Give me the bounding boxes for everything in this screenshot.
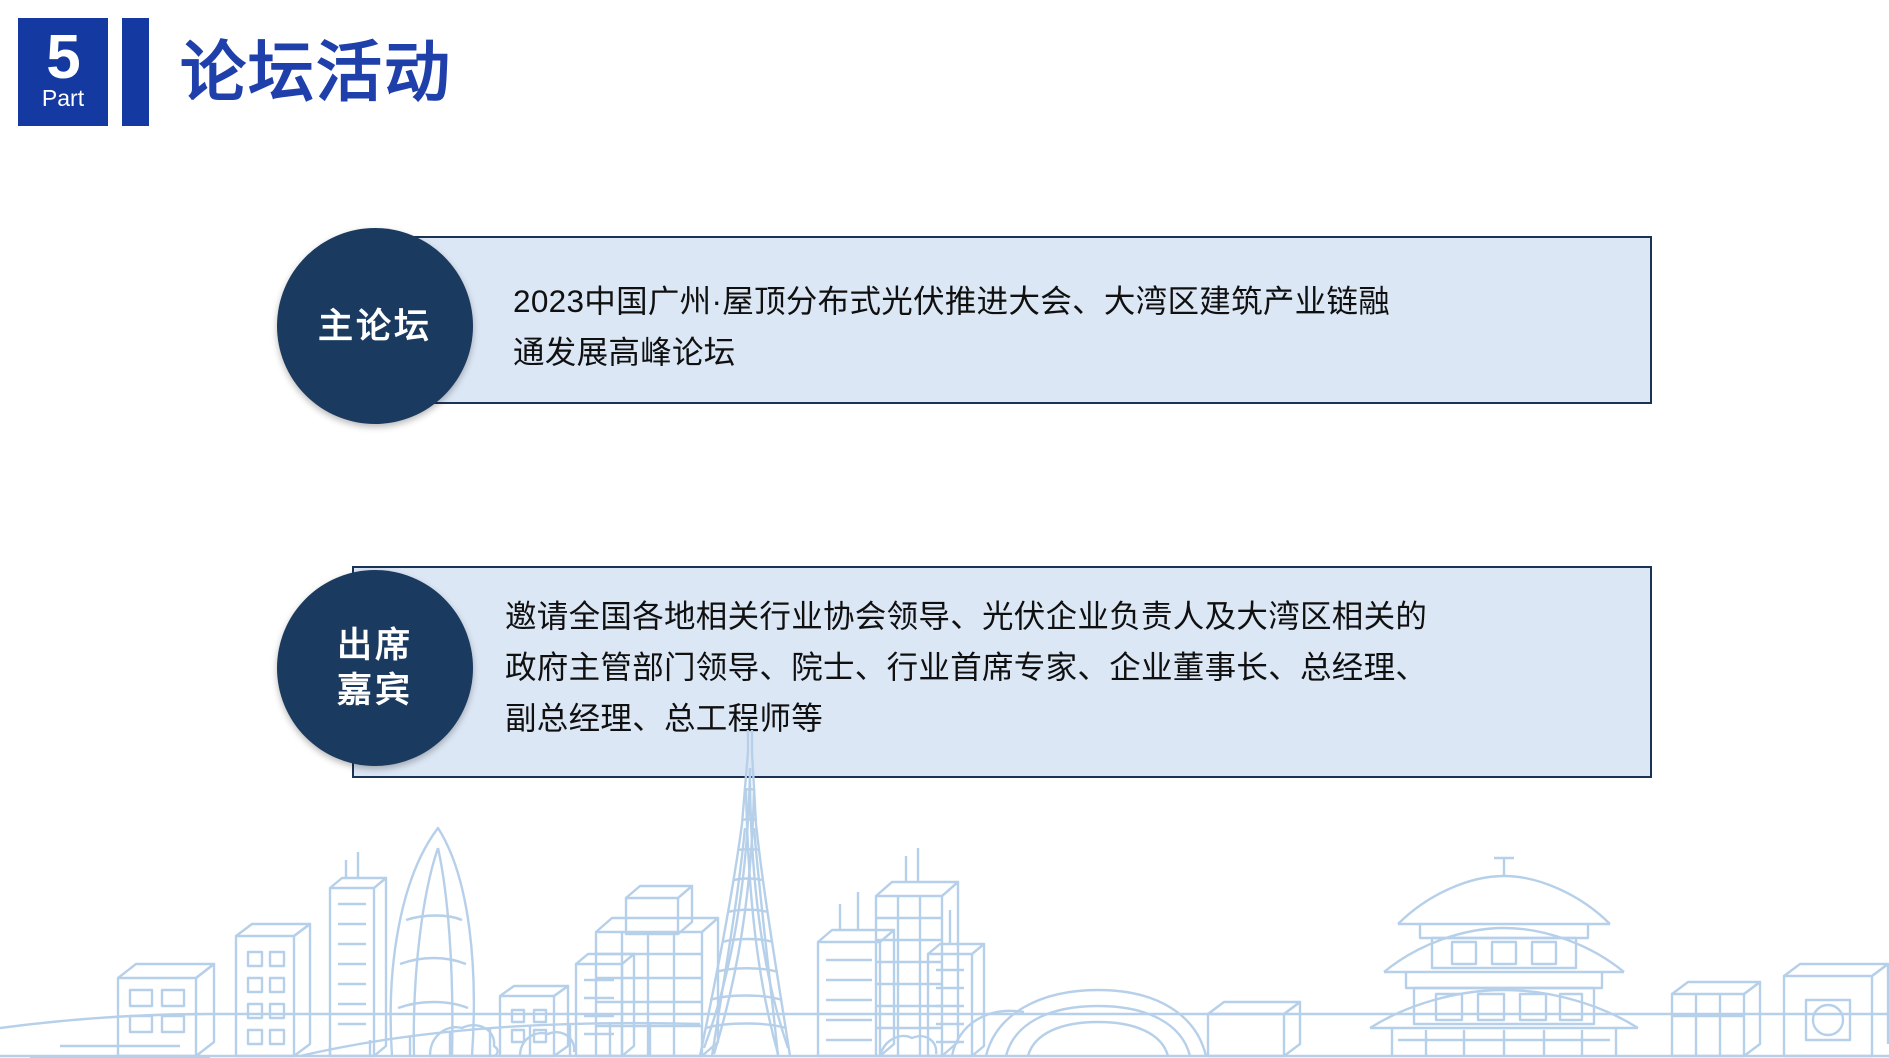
header-accent-bar <box>122 18 149 126</box>
page-title: 论坛活动 <box>180 22 452 122</box>
content-text: 邀请全国各地相关行业协会领导、光伏企业负责人及大湾区相关的 政府主管部门领导、院… <box>505 591 1630 744</box>
content-circle-label: 主论坛 <box>277 228 473 424</box>
part-label: Part <box>42 87 84 110</box>
part-number: 5 <box>46 32 79 85</box>
content-text: 2023中国广州·屋顶分布式光伏推进大会、大湾区建筑产业链融 通发展高峰论坛 <box>513 276 1623 378</box>
part-badge: 5 Part <box>18 18 108 126</box>
content-circle-label: 出席 嘉宾 <box>277 570 473 766</box>
slide-header: 5 Part 论坛活动 <box>0 0 1889 160</box>
